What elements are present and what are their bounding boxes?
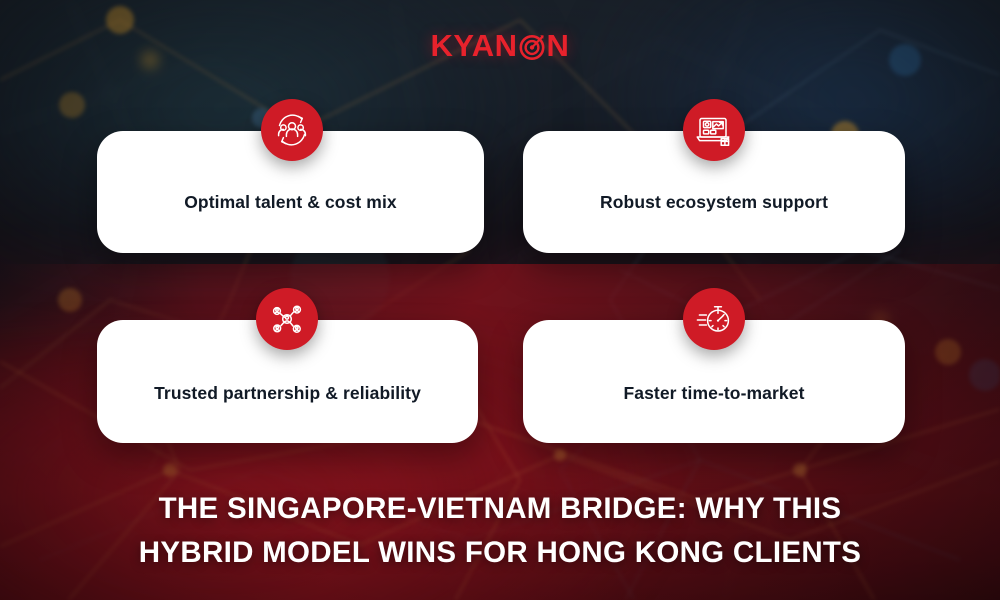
stopwatch-speed-icon (683, 288, 745, 350)
people-network-icon (256, 288, 318, 350)
team-refresh-icon (261, 99, 323, 161)
feature-card-title: Faster time-to-market (597, 359, 830, 405)
feature-card-title: Trusted partnership & reliability (128, 359, 447, 405)
feature-card-title: Optimal talent & cost mix (158, 170, 423, 214)
page-title: THE SINGAPORE-VIETNAM BRIDGE: WHY THIS H… (0, 487, 1000, 574)
headline-line-2: HYBRID MODEL WINS FOR HONG KONG CLIENTS (60, 531, 940, 575)
laptop-ecommerce-chart-icon (683, 99, 745, 161)
feature-card-title: Robust ecosystem support (574, 170, 854, 214)
slide-canvas: KYAN N Optimal talent & cost mix Robust … (0, 0, 1000, 600)
headline-line-1: THE SINGAPORE-VIETNAM BRIDGE: WHY THIS (60, 487, 940, 531)
